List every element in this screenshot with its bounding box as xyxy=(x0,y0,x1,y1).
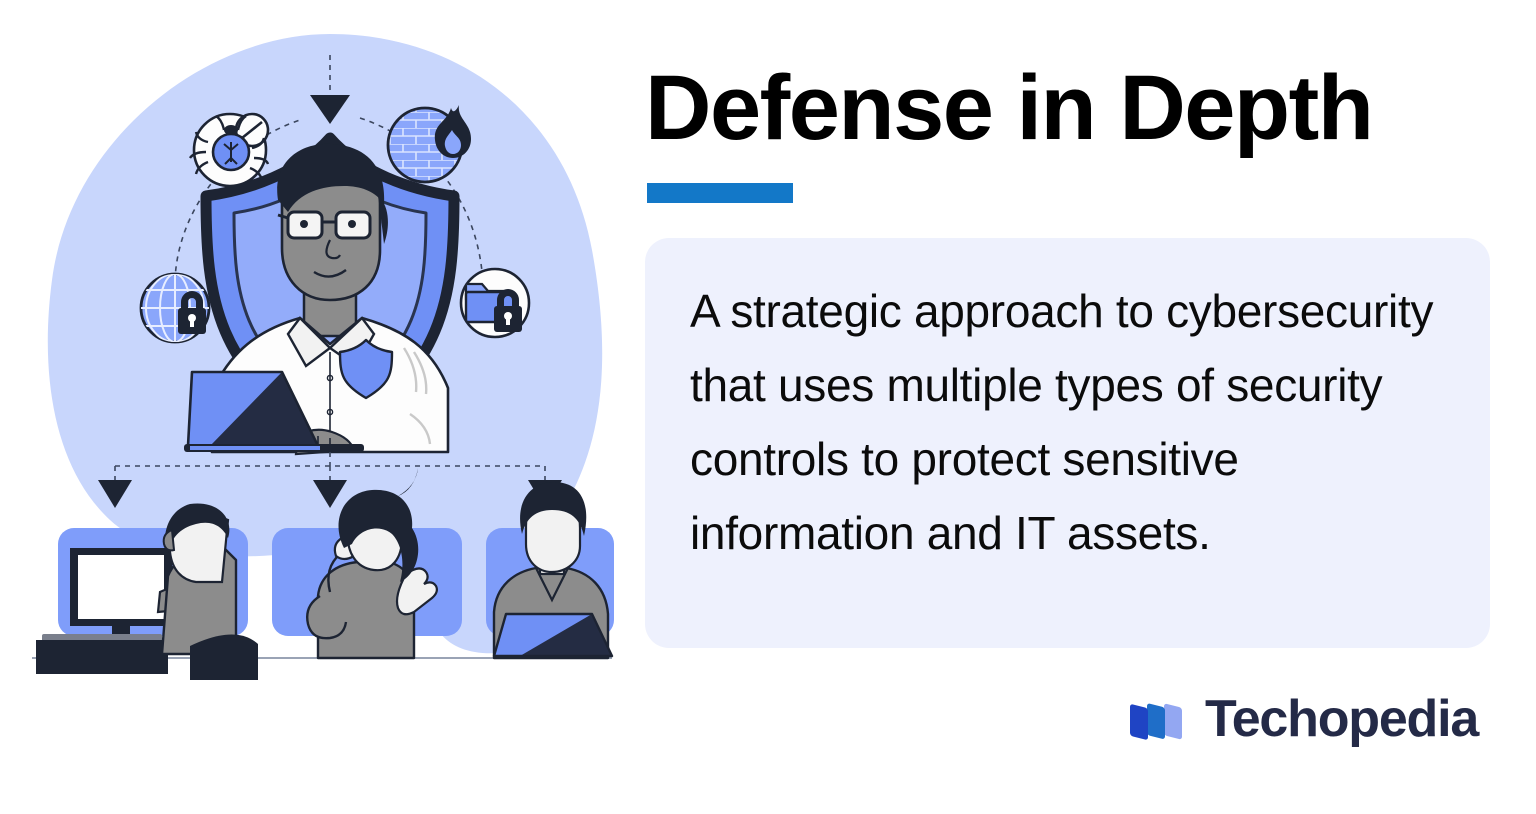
definition-text: A strategic approach to cybersecurity th… xyxy=(690,274,1446,570)
techopedia-mark-icon xyxy=(1127,688,1189,750)
folder-lock-icon xyxy=(461,269,529,337)
techopedia-wordmark: Techopedia xyxy=(1205,693,1478,745)
defense-in-depth-illustration xyxy=(0,0,640,814)
globe-lock-icon xyxy=(141,274,209,342)
brand-logo[interactable]: Techopedia xyxy=(1127,688,1478,750)
title-accent-bar xyxy=(647,183,793,203)
content-column: Defense in Depth A strategic approach to… xyxy=(645,0,1536,814)
page-title: Defense in Depth xyxy=(645,62,1505,154)
lock-glyph xyxy=(494,289,522,332)
infographic-card: Defense in Depth A strategic approach to… xyxy=(0,0,1536,814)
lock-glyph xyxy=(178,291,206,334)
worker-desktop xyxy=(36,503,258,680)
definition-card: A strategic approach to cybersecurity th… xyxy=(645,238,1490,648)
